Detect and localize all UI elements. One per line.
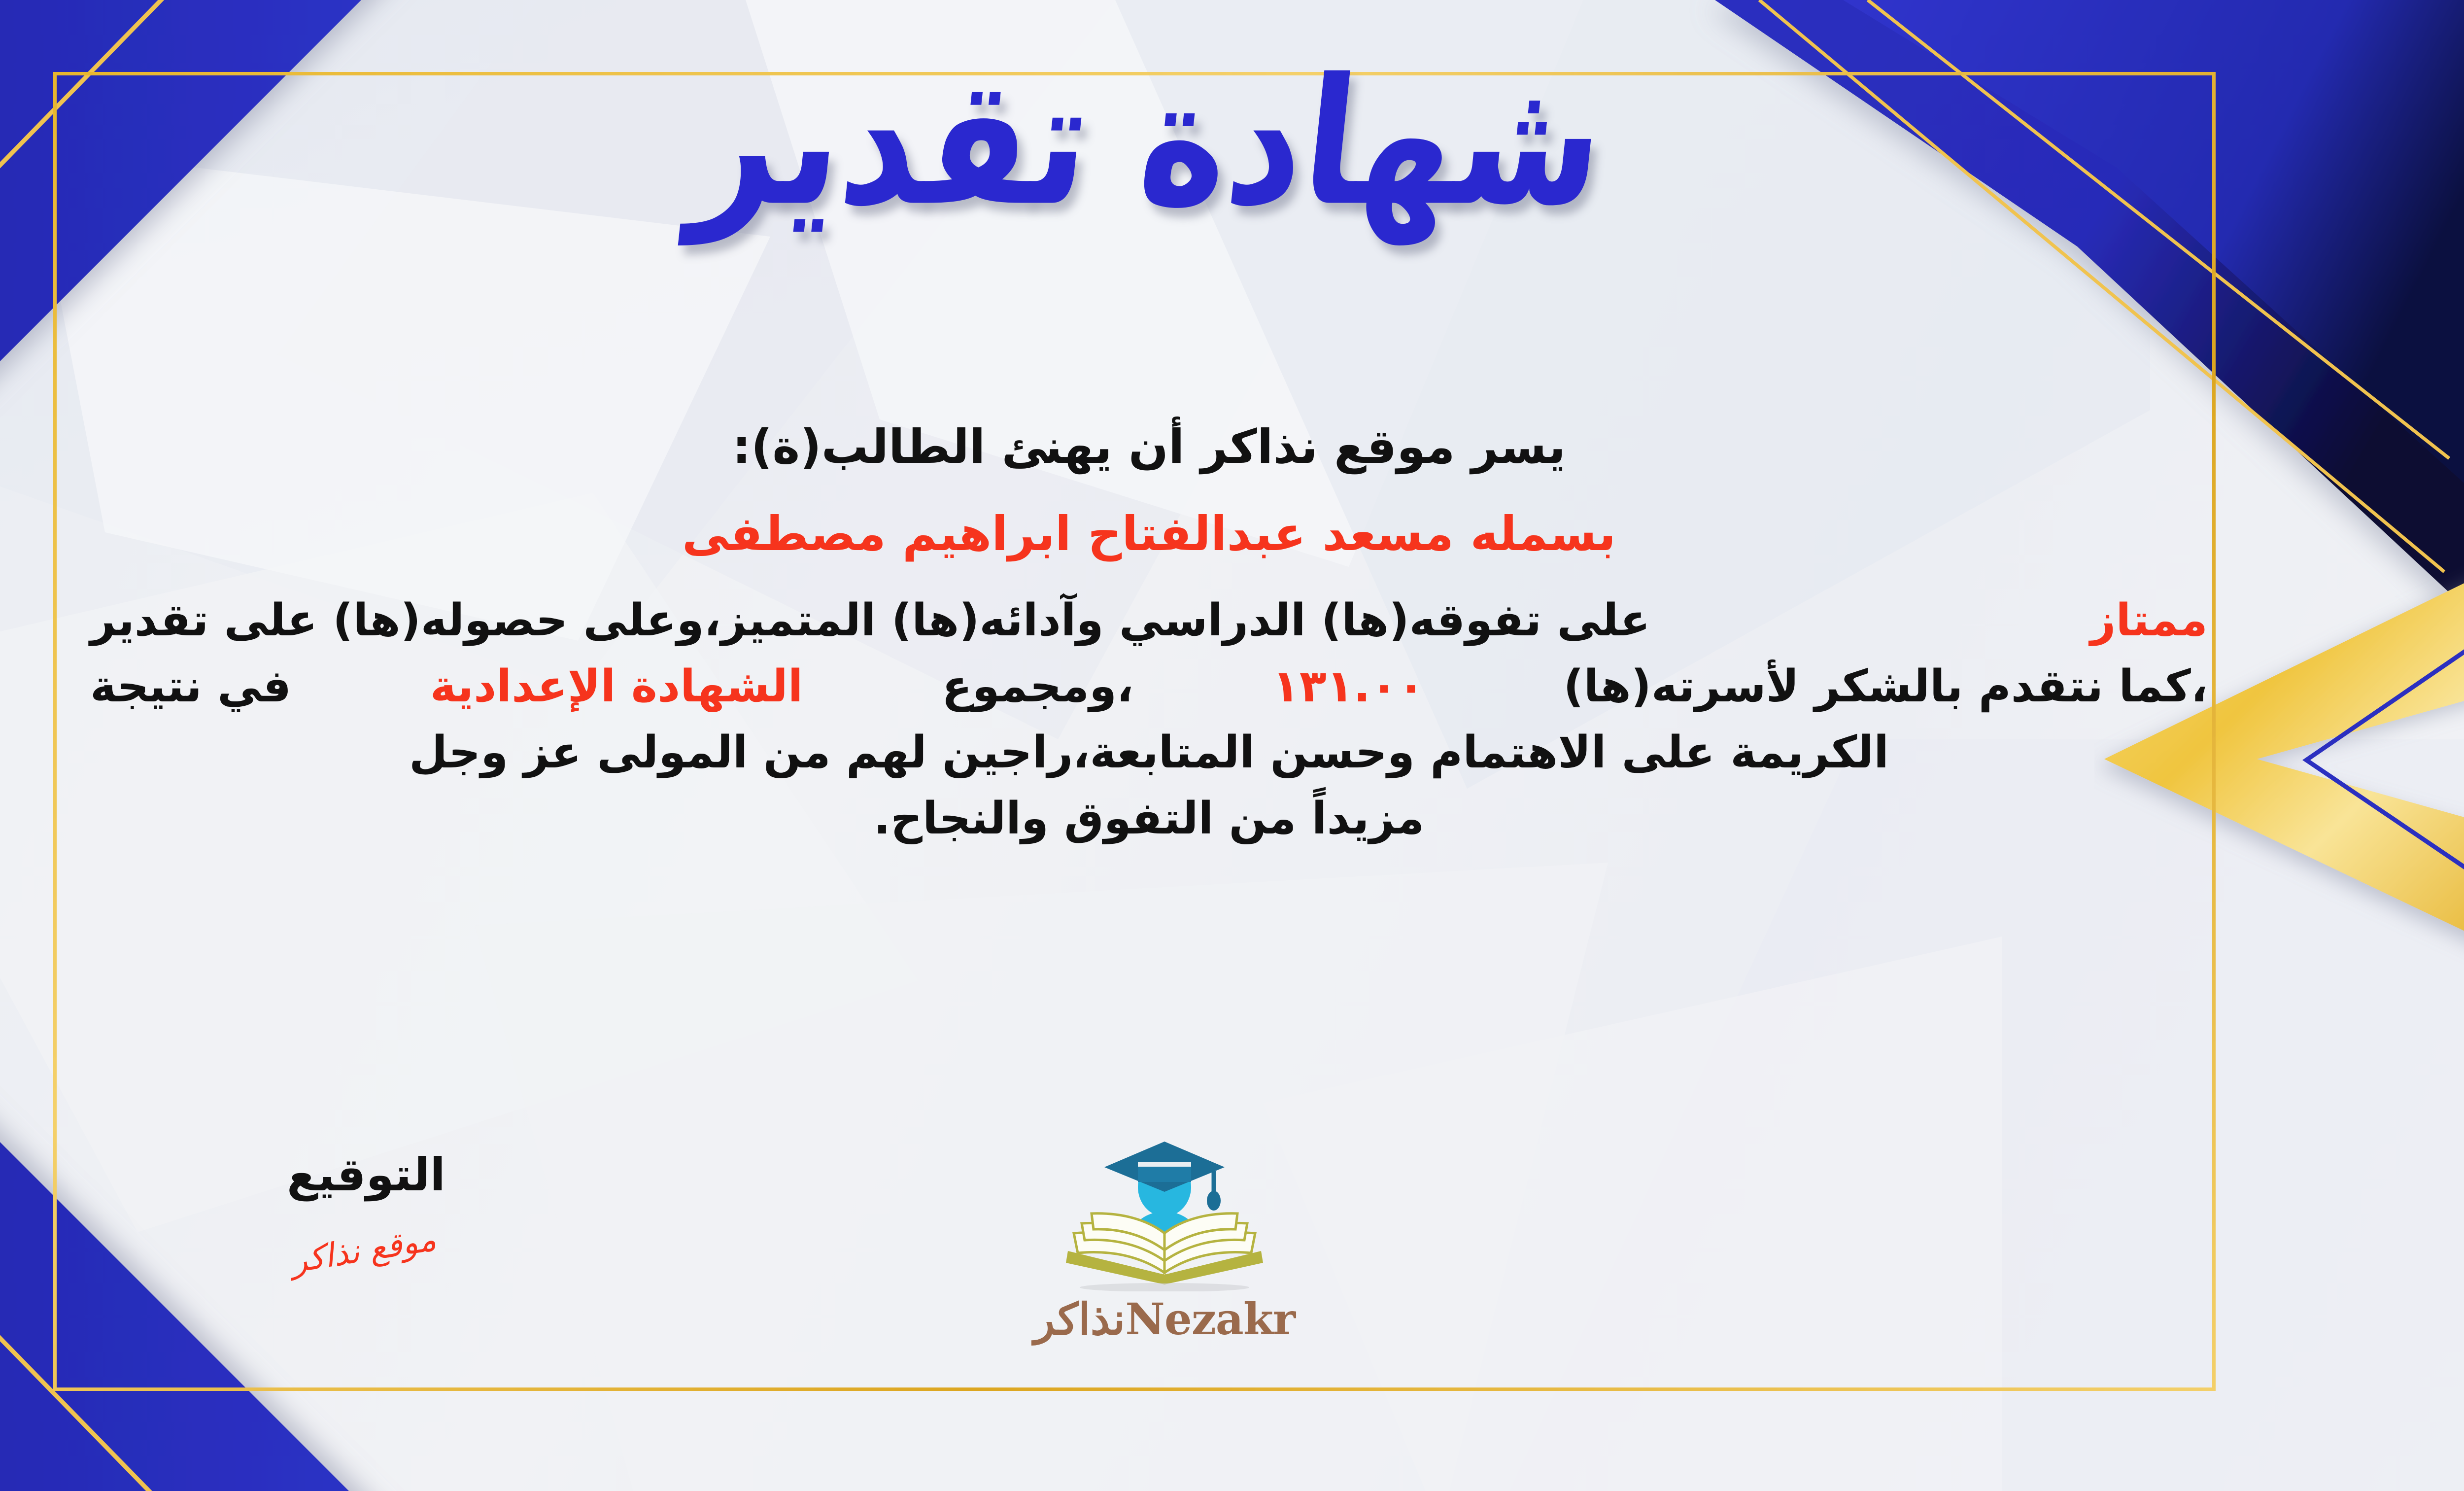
total-value: ١٣١.٠٠ [1272,655,1425,718]
certificate-body: يسر موقع نذاكر أن يهنئ الطالب(ة): بسمله … [90,414,2208,853]
praise-line: على تفوقه(ها) الدراسي وآدائه(ها) المتميز… [90,589,2208,652]
signature-label: التوقيع [189,1148,544,1201]
logo-wordmark: Nezakrنذاكر [982,1293,1347,1345]
certificate-title-text: شهادة تقدير [686,56,1612,230]
graduate-book-icon [1051,1129,1278,1291]
brand-logo: Nezakrنذاكر [982,1129,1347,1345]
certificate-page: شهادة تقدير يسر موقع نذاكر أن يهنئ الطال… [0,0,2464,1491]
page-title: شهادة تقدير [0,69,2464,217]
family-line: الكريمة على الاهتمام وحسن المتابعة،راجين… [90,721,2208,784]
student-name: بسمله مسعد عبدالفتاح ابراهيم مصطفى [90,500,2208,567]
grade-value: ممتاز [2090,589,2208,652]
result-prefix: في نتيجة [90,655,291,718]
total-label: ،ومجموع [942,655,1133,718]
result-line: في نتيجة الشهادة الإعدادية ،ومجموع ١٣١.٠… [90,655,2208,718]
praise-text: على تفوقه(ها) الدراسي وآدائه(ها) المتميز… [90,589,1650,652]
signature-block: التوقيع موقع نذاكر [189,1148,544,1269]
thanks-text: ،كما نتقدم بالشكر لأسرته(ها) [1563,655,2208,718]
closing-line: مزيداً من التفوق والنجاح. [90,787,2208,850]
intro-line: يسر موقع نذاكر أن يهنئ الطالب(ة): [90,414,2208,481]
exam-name: الشهادة الإعدادية [430,655,803,718]
